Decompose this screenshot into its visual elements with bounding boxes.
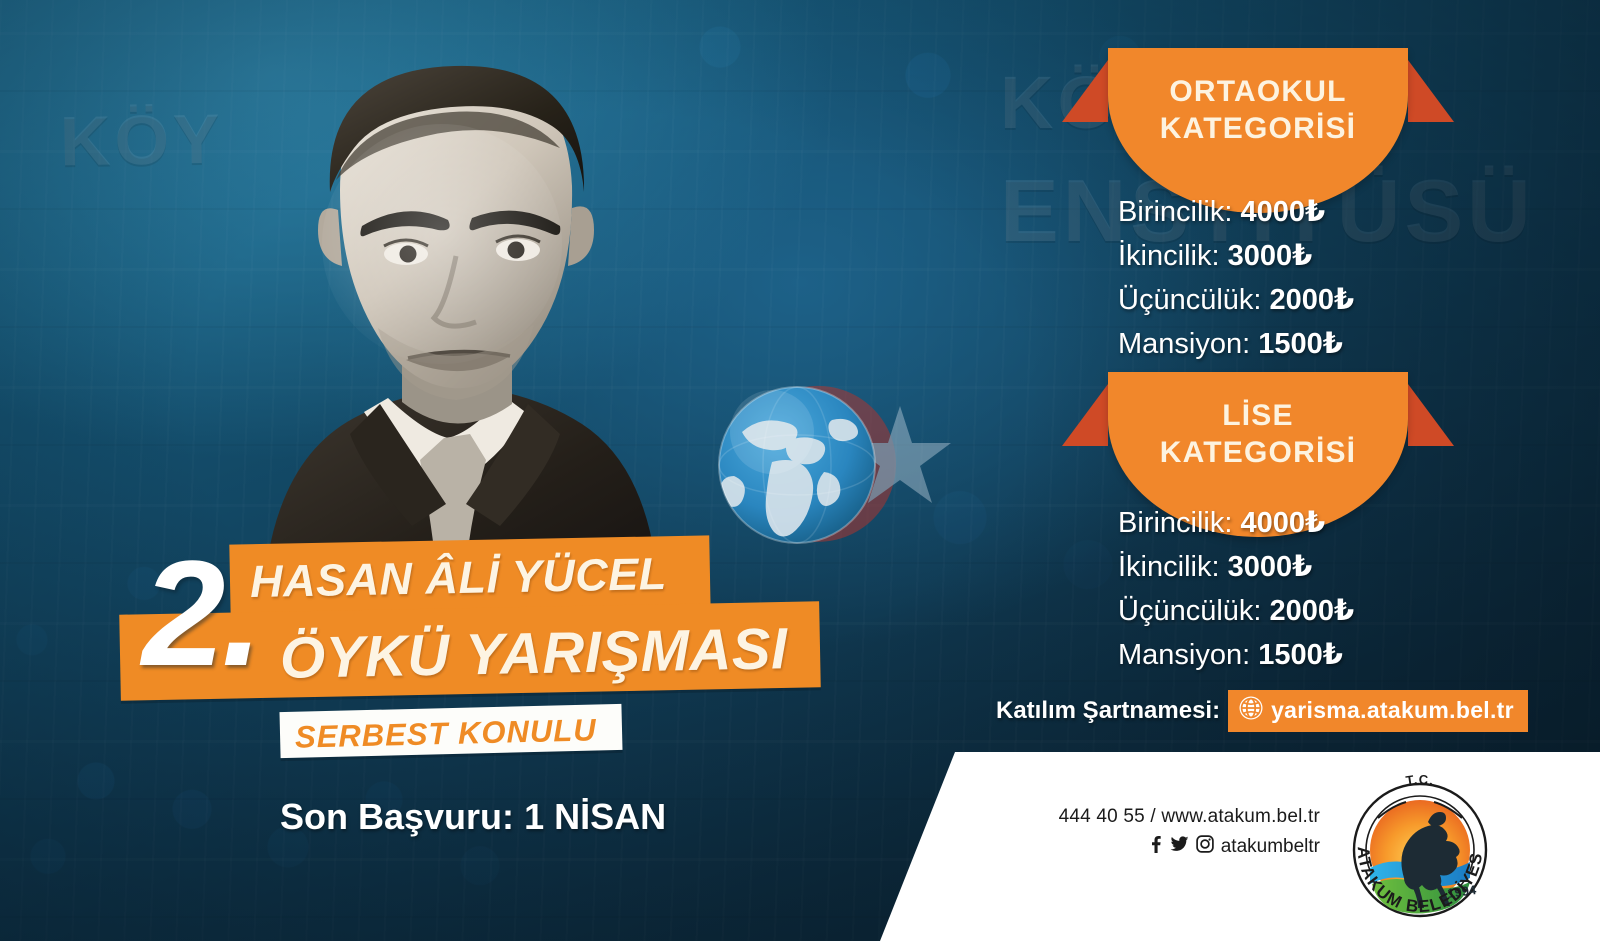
title-line-2: ÖYKÜ YARIŞMASI: [279, 615, 788, 692]
facebook-icon[interactable]: [1147, 835, 1163, 859]
badge-ribbon-left: [1062, 384, 1108, 446]
footer-contact-block: 444 40 55 / www.atakum.bel.tr atakumbelt…: [1020, 806, 1320, 859]
prize-amount: 3000₺: [1228, 240, 1313, 272]
social-handle: atakumbeltr: [1221, 836, 1320, 858]
twitter-icon[interactable]: [1170, 835, 1189, 859]
prize-row: İkincilik: 3000₺: [1118, 549, 1498, 584]
prize-row: Mansiyon: 1500₺: [1118, 637, 1498, 672]
category-badge-ortaokul: ORTAOKUL KATEGORİSİ: [1108, 48, 1408, 213]
badge-ribbon-right: [1408, 60, 1454, 122]
globe-icon: [1238, 695, 1264, 726]
prize-row: Birincilik: 4000₺: [1118, 194, 1498, 229]
logo-tc-text: T.C.: [1405, 772, 1436, 788]
footer-social-line: atakumbeltr: [1020, 835, 1320, 859]
prize-label: Birincilik:: [1118, 196, 1232, 228]
deadline-label: Son Başvuru:: [280, 796, 514, 837]
category-badge-label: ORTAOKUL KATEGORİSİ: [1108, 74, 1408, 147]
prize-amount: 2000₺: [1270, 595, 1355, 627]
prize-row: Üçüncülük: 2000₺: [1118, 282, 1498, 317]
subtitle-text: SERBEST KONULU: [295, 712, 597, 755]
footer-contact-line: 444 40 55 / www.atakum.bel.tr: [1020, 806, 1320, 828]
prize-row: Birincilik: 4000₺: [1118, 505, 1498, 540]
prize-amount: 4000₺: [1240, 196, 1325, 228]
prize-amount: 2000₺: [1270, 284, 1355, 316]
terms-label: Katılım Şartnamesi:: [996, 697, 1220, 725]
edition-number: 2.: [142, 550, 259, 678]
prize-list-lise: Birincilik: 4000₺ İkincilik: 3000₺ Üçünc…: [1118, 505, 1498, 681]
prize-label: Mansiyon:: [1118, 328, 1250, 360]
prize-amount: 3000₺: [1228, 551, 1313, 583]
category-badge-label: LİSE KATEGORİSİ: [1108, 398, 1408, 471]
badge-ribbon-left: [1062, 60, 1108, 122]
terms-url-text: yarisma.atakum.bel.tr: [1271, 697, 1514, 724]
prize-amount: 1500₺: [1258, 328, 1343, 360]
title-block: HASAN ÂLİ YÜCEL ÖYKÜ YARIŞMASI 2. SERBES…: [120, 528, 880, 778]
prize-label: İkincilik:: [1118, 551, 1220, 583]
badge-ribbon-right: [1408, 384, 1454, 446]
instagram-icon[interactable]: [1196, 835, 1214, 859]
prize-row: Üçüncülük: 2000₺: [1118, 593, 1498, 628]
deadline-line: Son Başvuru: 1 NİSAN: [280, 796, 666, 838]
globe-icon: [712, 380, 882, 550]
title-line-1: HASAN ÂLİ YÜCEL: [250, 548, 668, 608]
terms-line: Katılım Şartnamesi: yarisma.atakum.bel.t…: [996, 690, 1528, 732]
prize-label: Birincilik:: [1118, 507, 1232, 539]
prize-label: Mansiyon:: [1118, 639, 1250, 671]
atakum-belediyesi-logo: 1994 T.C. ATAKUM BELEDİYESİ: [1330, 752, 1510, 932]
deadline-value: 1 NİSAN: [524, 796, 666, 837]
prize-label: Üçüncülük:: [1118, 595, 1261, 627]
prize-label: İkincilik:: [1118, 240, 1220, 272]
svg-text:T.C.: T.C.: [1405, 772, 1436, 788]
prize-row: İkincilik: 3000₺: [1118, 238, 1498, 273]
poster-canvas: KÖY KÖY ENSTİTÜSÜ: [0, 0, 1600, 941]
portrait-hasan-ali-yucel: [210, 0, 680, 614]
prize-amount: 1500₺: [1258, 639, 1343, 671]
prize-list-ortaokul: Birincilik: 4000₺ İkincilik: 3000₺ Üçünc…: [1118, 194, 1498, 370]
terms-url-button[interactable]: yarisma.atakum.bel.tr: [1228, 690, 1528, 732]
prize-label: Üçüncülük:: [1118, 284, 1261, 316]
prize-row: Mansiyon: 1500₺: [1118, 326, 1498, 361]
prize-amount: 4000₺: [1240, 507, 1325, 539]
